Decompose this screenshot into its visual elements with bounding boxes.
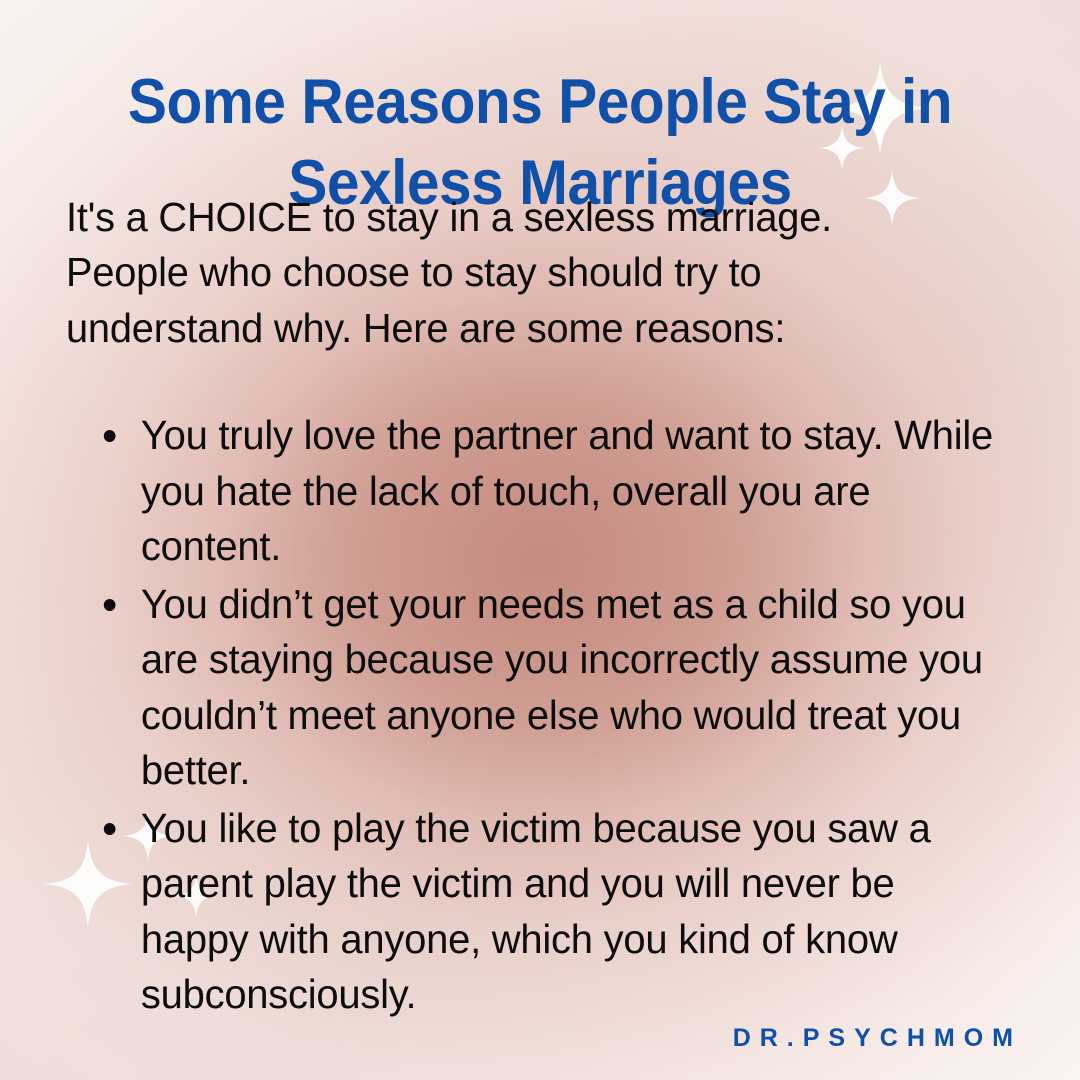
intro-line-3: understand why. Here are some reasons:	[66, 301, 939, 356]
brand-wordmark: DR.PSYCHMOM	[733, 1024, 1022, 1053]
title-line-1: Some Reasons People Stay in	[75, 62, 1005, 143]
bullet-dot-icon	[104, 823, 116, 835]
bullet-dot-icon	[104, 599, 116, 611]
list-item: You truly love the partner and want to s…	[96, 408, 1003, 575]
reasons-list: You truly love the partner and want to s…	[96, 408, 1026, 1025]
list-item-label: You didn’t get your needs met as a child…	[141, 577, 1003, 799]
card-content: Some Reasons People Stay in Sexless Marr…	[0, 0, 1080, 1080]
intro-line-2: People who choose to stay should try to	[66, 245, 939, 300]
list-item: You didn’t get your needs met as a child…	[96, 577, 1003, 799]
list-item: You like to play the victim because you …	[96, 801, 1003, 1023]
list-item-label: You truly love the partner and want to s…	[141, 408, 1003, 575]
intro-paragraph: It's a CHOICE to stay in a sexless marri…	[66, 190, 939, 356]
list-item-label: You like to play the victim because you …	[141, 801, 1003, 1023]
infographic-card: Some Reasons People Stay in Sexless Marr…	[0, 0, 1080, 1080]
intro-line-1: It's a CHOICE to stay in a sexless marri…	[66, 190, 939, 245]
bullet-dot-icon	[104, 430, 116, 442]
